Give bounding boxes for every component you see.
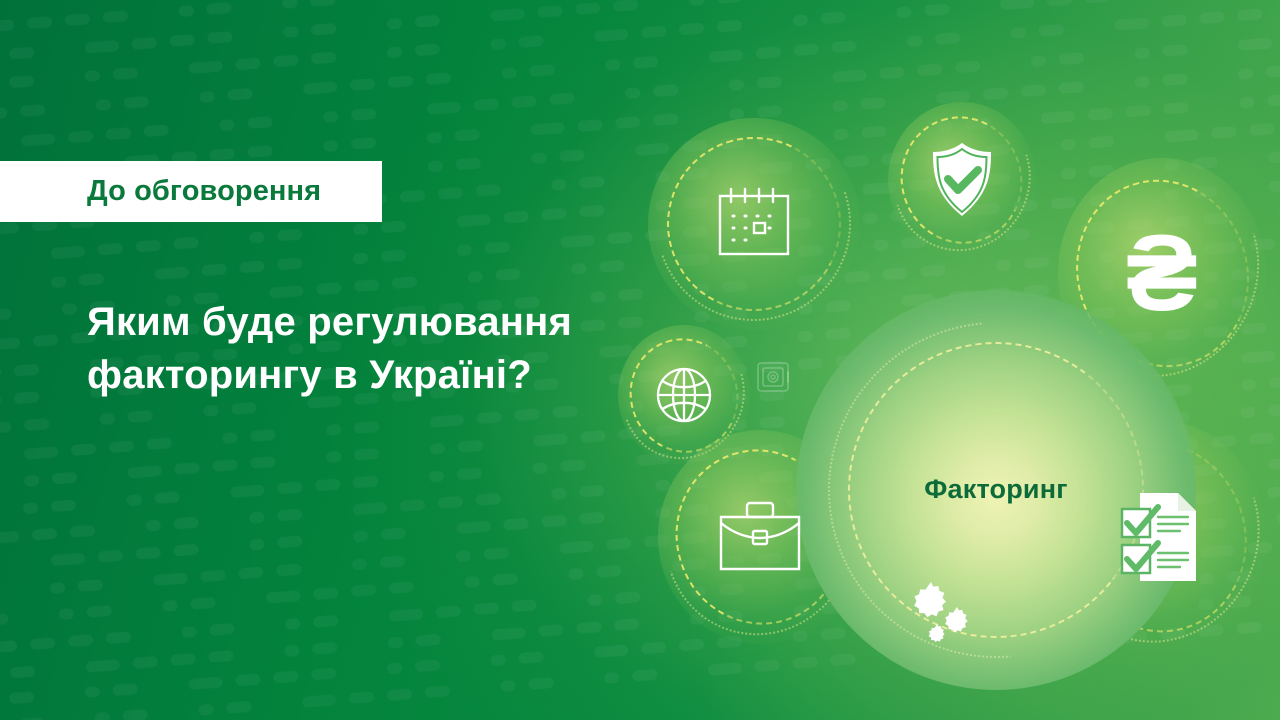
dash <box>456 214 491 228</box>
dash <box>85 70 101 82</box>
dash <box>70 443 96 456</box>
dash <box>495 268 521 281</box>
dash <box>493 573 519 586</box>
dash <box>67 634 93 647</box>
dash <box>1238 37 1273 51</box>
dash <box>594 29 629 43</box>
dash <box>531 122 566 136</box>
dash <box>0 281 1 294</box>
dash <box>754 0 780 1</box>
dash <box>351 584 377 597</box>
dash <box>323 140 339 152</box>
dash <box>568 567 584 579</box>
dash <box>416 633 442 646</box>
dash <box>511 599 537 612</box>
dash <box>427 160 443 172</box>
dash <box>127 494 143 506</box>
dash <box>538 624 564 637</box>
dash <box>456 521 491 535</box>
dash <box>191 596 217 609</box>
dash <box>1162 44 1188 57</box>
dash <box>247 145 273 158</box>
dash <box>352 531 368 543</box>
dash <box>105 631 131 644</box>
dash <box>9 692 35 705</box>
dash <box>58 101 84 114</box>
dash <box>33 334 59 347</box>
dash <box>143 628 169 641</box>
dash <box>84 40 119 54</box>
dash <box>633 55 659 68</box>
dash <box>47 73 73 86</box>
diagram-node-shield[interactable] <box>888 102 1036 258</box>
dash <box>276 536 302 549</box>
dash <box>463 69 489 82</box>
dash <box>417 552 443 565</box>
dash <box>1047 0 1073 7</box>
dash <box>200 569 226 582</box>
dash <box>0 504 11 517</box>
dash <box>0 531 20 544</box>
dash <box>709 49 744 63</box>
dash <box>189 61 224 75</box>
dash <box>794 73 820 86</box>
dash <box>399 499 425 512</box>
dash <box>387 47 403 59</box>
dash <box>821 12 847 25</box>
dash <box>288 426 314 439</box>
dash <box>511 95 537 108</box>
dash <box>1096 49 1122 62</box>
dash <box>351 137 377 150</box>
dash <box>1135 76 1151 88</box>
dash <box>8 47 34 60</box>
briefcase-icon <box>718 501 802 573</box>
dash <box>429 443 445 455</box>
dash <box>51 276 67 288</box>
dash <box>429 274 455 287</box>
dash <box>105 127 131 140</box>
dash <box>1134 47 1150 59</box>
dash <box>24 418 50 431</box>
dash <box>247 620 273 633</box>
dash <box>973 29 999 42</box>
slide-canvas: До обговорення Яким буде регулювання фак… <box>0 0 1280 720</box>
dash <box>79 273 105 286</box>
dash <box>559 540 594 554</box>
dash <box>575 2 601 15</box>
dash <box>528 677 554 690</box>
calendar-icon <box>713 186 795 262</box>
dash <box>467 271 483 283</box>
dash <box>907 35 923 47</box>
dash <box>0 477 11 490</box>
dash <box>756 46 782 59</box>
dash <box>493 154 519 167</box>
dash <box>533 265 559 278</box>
dash <box>529 64 555 77</box>
dash <box>869 37 895 50</box>
dash <box>131 37 157 50</box>
dash <box>151 681 177 694</box>
dash <box>249 512 265 524</box>
dash <box>209 623 235 636</box>
dash <box>238 566 264 579</box>
dash <box>490 8 525 22</box>
dash <box>531 570 557 583</box>
dash <box>503 518 529 531</box>
dash <box>513 490 539 503</box>
dash <box>303 81 338 95</box>
dash <box>145 520 161 532</box>
dash <box>99 413 115 425</box>
dash <box>288 453 314 466</box>
dash <box>522 238 548 251</box>
dash <box>50 553 85 567</box>
dash <box>277 509 303 522</box>
dash <box>388 608 423 622</box>
dash <box>418 218 444 231</box>
dash <box>23 475 39 487</box>
dash <box>155 266 190 280</box>
dash <box>455 550 471 562</box>
dash <box>571 263 587 275</box>
dash <box>235 58 261 71</box>
dash <box>201 263 227 276</box>
dash <box>391 277 417 290</box>
dash <box>56 714 82 720</box>
dash <box>199 90 215 102</box>
dash <box>418 525 444 538</box>
dash <box>1030 55 1046 67</box>
dash <box>935 32 961 45</box>
gears-icon-holes <box>905 576 979 646</box>
dash <box>0 252 1 265</box>
dash <box>51 472 77 485</box>
dash <box>531 152 547 164</box>
dash <box>169 34 195 47</box>
dash <box>551 179 567 191</box>
dash <box>1039 23 1065 36</box>
dash <box>348 0 374 4</box>
dash <box>124 95 150 108</box>
dash <box>1058 52 1084 65</box>
dash <box>514 408 540 421</box>
dash <box>160 706 186 719</box>
dash <box>0 337 20 351</box>
dash <box>457 440 483 453</box>
dash <box>27 16 53 29</box>
dash <box>86 659 121 673</box>
dash <box>146 437 172 450</box>
dash <box>350 78 376 91</box>
shield-check-icon <box>929 141 995 219</box>
dash <box>78 579 104 592</box>
dash <box>310 0 336 7</box>
dash <box>0 367 2 379</box>
dash <box>387 663 403 675</box>
dash <box>249 539 265 551</box>
dash <box>0 640 17 654</box>
dash <box>454 630 480 643</box>
dash <box>426 72 452 85</box>
dash <box>102 10 128 23</box>
dash <box>23 502 39 514</box>
dash <box>273 55 299 68</box>
dash <box>1200 41 1226 54</box>
dash <box>503 211 529 224</box>
dash <box>265 84 291 97</box>
dash <box>793 15 809 27</box>
dash <box>207 31 233 44</box>
dash <box>163 599 179 611</box>
dash <box>161 93 187 106</box>
dash <box>605 58 621 70</box>
dash <box>315 478 341 491</box>
dash <box>716 0 742 4</box>
dash <box>414 15 440 28</box>
dash <box>0 421 12 434</box>
dash <box>50 582 66 594</box>
dash <box>245 28 271 41</box>
dash <box>483 547 509 560</box>
dash <box>556 33 582 46</box>
dash <box>380 528 406 541</box>
dash <box>59 608 75 620</box>
dash <box>189 677 224 691</box>
dash <box>388 105 414 118</box>
dash <box>415 660 441 673</box>
dash <box>228 593 254 606</box>
factoring-diagram: ₴ <box>600 90 1280 680</box>
dash <box>688 0 704 6</box>
dash <box>552 405 578 418</box>
dash <box>1123 0 1149 1</box>
dash <box>427 131 443 143</box>
dash <box>533 433 568 447</box>
dash <box>455 128 481 141</box>
dash <box>962 1 988 14</box>
dash <box>312 641 338 654</box>
dash <box>276 563 302 576</box>
dash <box>208 650 234 663</box>
hryvnia-currency-icon: ₴ <box>1126 219 1198 327</box>
dash <box>832 69 867 83</box>
dash <box>249 232 265 244</box>
dash <box>1200 70 1226 83</box>
dash <box>21 133 56 147</box>
dash <box>313 615 339 628</box>
dash <box>127 465 162 479</box>
dash <box>170 653 196 666</box>
dash <box>96 98 112 110</box>
diagram-node-factoring-center[interactable]: Факторинг <box>796 290 1196 690</box>
dash <box>349 49 375 62</box>
dash <box>285 113 311 126</box>
dash <box>475 493 501 506</box>
dash <box>0 308 11 321</box>
dash <box>386 18 402 30</box>
dash <box>127 410 153 423</box>
dash <box>1097 78 1123 91</box>
dash <box>559 149 585 162</box>
dash <box>426 101 461 115</box>
dash <box>117 270 143 283</box>
dash <box>350 108 376 121</box>
dash <box>532 462 548 474</box>
dash <box>389 581 415 594</box>
dash <box>24 446 59 460</box>
dash <box>576 621 602 634</box>
dash <box>67 130 93 143</box>
dash <box>437 187 463 200</box>
dash <box>285 617 301 629</box>
dash <box>29 637 55 650</box>
dash <box>0 450 11 463</box>
dash <box>247 116 273 129</box>
dash <box>135 240 161 253</box>
dash <box>51 499 77 512</box>
dash <box>277 229 303 242</box>
dash <box>250 429 276 442</box>
dash <box>206 2 232 15</box>
dash <box>388 75 414 88</box>
dash <box>311 52 337 65</box>
dash <box>560 459 586 472</box>
dash <box>323 111 339 123</box>
dash <box>491 655 507 667</box>
dash <box>178 5 194 17</box>
dash <box>133 656 159 669</box>
dash <box>879 66 905 79</box>
dash <box>173 544 199 557</box>
dash <box>473 98 499 111</box>
dash <box>211 541 237 554</box>
dash <box>350 612 376 625</box>
dash <box>485 241 511 254</box>
dash <box>1085 0 1111 4</box>
center-label: Факторинг <box>796 474 1196 505</box>
dash <box>560 234 595 248</box>
dash <box>273 671 299 684</box>
dash <box>452 12 478 25</box>
dash <box>924 4 950 17</box>
dash <box>831 40 857 53</box>
dash <box>391 418 417 431</box>
dash <box>896 7 912 19</box>
dash <box>501 67 517 79</box>
dash <box>380 555 406 568</box>
dash <box>315 506 341 519</box>
dash <box>1199 11 1225 24</box>
dash <box>476 411 502 424</box>
dash <box>453 41 479 54</box>
dash <box>429 470 445 482</box>
dash <box>350 638 376 651</box>
dash <box>1077 20 1103 33</box>
dash <box>455 157 481 170</box>
dash <box>285 142 311 155</box>
dash <box>47 689 73 702</box>
dash <box>348 691 374 704</box>
status-badge-label: До обговорення <box>87 175 321 208</box>
dash <box>491 627 526 641</box>
dash <box>495 464 521 477</box>
dash <box>62 415 88 428</box>
dash <box>1237 8 1263 21</box>
dash <box>46 44 72 57</box>
dash <box>235 674 261 687</box>
dash <box>97 550 123 563</box>
dash <box>679 23 705 36</box>
dash <box>151 65 177 78</box>
dash <box>793 43 819 56</box>
dash <box>97 243 123 256</box>
dash <box>23 305 49 318</box>
dash <box>173 517 199 530</box>
dash <box>671 52 697 65</box>
dash <box>14 391 40 404</box>
dash <box>212 459 238 472</box>
dash <box>1161 14 1187 27</box>
dash <box>125 602 151 615</box>
dash <box>491 39 507 51</box>
dash <box>0 136 8 149</box>
dash <box>537 5 563 18</box>
dash <box>353 279 379 292</box>
dash <box>107 522 133 535</box>
dash <box>352 558 368 570</box>
dash <box>211 234 237 247</box>
dash <box>427 578 453 591</box>
dash <box>246 647 272 660</box>
dash <box>143 124 169 137</box>
dash <box>277 257 303 270</box>
dash <box>549 596 575 609</box>
dash <box>302 694 337 708</box>
dash <box>314 533 340 546</box>
dash <box>94 712 110 720</box>
dash <box>1011 26 1027 38</box>
dash <box>51 246 86 260</box>
dash <box>65 13 91 26</box>
dash <box>390 162 416 175</box>
dash <box>284 644 300 656</box>
dash <box>20 104 46 117</box>
dash <box>566 674 592 687</box>
dash <box>311 668 337 681</box>
dash <box>348 20 374 33</box>
dash <box>314 560 340 573</box>
dash <box>0 107 8 120</box>
dash <box>122 709 148 720</box>
dash <box>613 0 639 12</box>
dash <box>12 584 38 597</box>
dash <box>437 496 463 509</box>
dash <box>549 92 575 105</box>
dash <box>641 26 667 39</box>
dash <box>457 467 483 480</box>
dash <box>381 221 407 234</box>
diagram-node-calendar[interactable] <box>648 118 860 330</box>
dash <box>353 502 388 516</box>
dash <box>282 0 298 9</box>
dash <box>315 254 341 267</box>
dash <box>651 0 677 9</box>
dash <box>465 576 481 588</box>
dash <box>230 484 265 498</box>
dash <box>135 547 161 560</box>
